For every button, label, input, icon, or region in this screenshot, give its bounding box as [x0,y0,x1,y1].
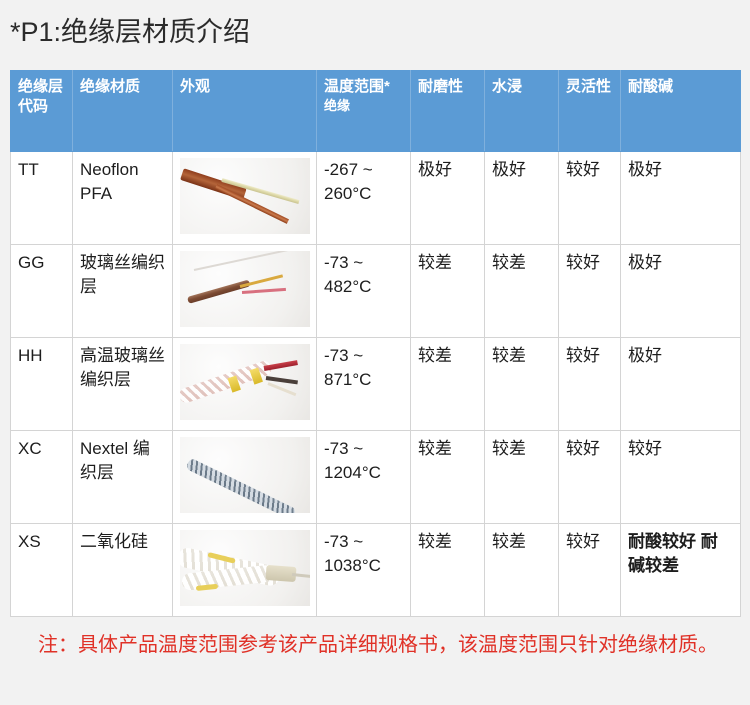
cell-abrasion-resistance: 极好 [411,152,485,245]
cell-temperature-range: -267 ~ 260°C [317,152,411,245]
cell-abrasion-resistance: 较差 [411,431,485,524]
cell-appearance [173,431,317,524]
table-header: 绝缘层代码 绝缘材质 外观 温度范围*绝缘 耐磨性 水浸 灵活性 耐酸碱 [11,71,741,152]
cell-abrasion-resistance: 较差 [411,524,485,617]
column-header-temperature-sub: 绝缘 [324,97,403,114]
cell-water-immersion: 较差 [485,524,559,617]
cell-insulation-material: 玻璃丝编织层 [73,245,173,338]
cell-temperature-range: -73 ~ 482°C [317,245,411,338]
cell-appearance [173,338,317,431]
cell-abrasion-resistance: 较差 [411,245,485,338]
cell-appearance [173,524,317,617]
column-header-acid-alkali-resistance: 耐酸碱 [621,71,741,152]
cell-flexibility: 较好 [559,152,621,245]
cell-temperature-range: -73 ~ 871°C [317,338,411,431]
column-header-flexibility: 灵活性 [559,71,621,152]
table-header-row: 绝缘层代码 绝缘材质 外观 温度范围*绝缘 耐磨性 水浸 灵活性 耐酸碱 [11,71,741,152]
cell-acid-alkali-resistance: 较好 [621,431,741,524]
cell-acid-alkali-resistance: 极好 [621,152,741,245]
cell-water-immersion: 较差 [485,431,559,524]
table-row: GG 玻璃丝编织层 -73 ~ 482°C 较差 较差 较好 极好 [11,245,741,338]
cell-insulation-material: Nextel 编织层 [73,431,173,524]
photo-background [180,251,310,327]
insulation-material-table: 绝缘层代码 绝缘材质 外观 温度范围*绝缘 耐磨性 水浸 灵活性 耐酸碱 TT … [10,70,741,617]
cell-acid-alkali-resistance: 极好 [621,245,741,338]
page-title: *P1:绝缘层材质介绍 [10,14,250,50]
cell-insulation-material: 高温玻璃丝编织层 [73,338,173,431]
column-header-temperature-range: 温度范围*绝缘 [317,71,411,152]
page-root: *P1:绝缘层材质介绍 绝缘层代码 绝缘材质 外观 温度范围*绝缘 耐磨性 水浸… [0,0,750,705]
photo-background [180,158,310,234]
cell-flexibility: 较好 [559,245,621,338]
cell-water-immersion: 较差 [485,245,559,338]
high-temp-glass-fiber-braid-photo [180,344,310,420]
table-note: 注：具体产品温度范围参考该产品详细规格书，该温度范围只针对绝缘材质。 [38,628,728,662]
column-header-temperature-main: 温度范围* [324,78,390,95]
cell-insulation-code: GG [11,245,73,338]
nextel-braid-photo [180,437,310,513]
cell-water-immersion: 较差 [485,338,559,431]
table-row: HH 高温玻璃丝编织层 -73 ~ 871°C 较差 较差 [11,338,741,431]
cell-insulation-code: TT [11,152,73,245]
column-header-appearance: 外观 [173,71,317,152]
cell-insulation-code: XS [11,524,73,617]
glass-fiber-braid-photo [180,251,310,327]
table-body: TT Neoflon PFA -267 ~ 260°C 极好 极好 较好 极好 [11,152,741,617]
table-row: TT Neoflon PFA -267 ~ 260°C 极好 极好 较好 极好 [11,152,741,245]
pfa-wire-photo [180,158,310,234]
cell-insulation-code: HH [11,338,73,431]
cell-acid-alkali-resistance: 极好 [621,338,741,431]
cell-appearance [173,245,317,338]
column-header-insulation-code: 绝缘层代码 [11,71,73,152]
column-header-abrasion-resistance: 耐磨性 [411,71,485,152]
column-header-insulation-material: 绝缘材质 [73,71,173,152]
table-row: XC Nextel 编织层 -73 ~ 1204°C 较差 较差 较好 较好 [11,431,741,524]
column-header-water-immersion: 水浸 [485,71,559,152]
table-row: XS 二氧化硅 -73 ~ 1038°C 较差 较差 较好 [11,524,741,617]
cell-acid-alkali-resistance: 耐酸较好 耐碱较差 [621,524,741,617]
cell-abrasion-resistance: 较差 [411,338,485,431]
cell-temperature-range: -73 ~ 1204°C [317,431,411,524]
cell-temperature-range: -73 ~ 1038°C [317,524,411,617]
silica-sleeve-photo [180,530,310,606]
cell-appearance [173,152,317,245]
cell-water-immersion: 极好 [485,152,559,245]
cell-insulation-material: Neoflon PFA [73,152,173,245]
cell-flexibility: 较好 [559,431,621,524]
cell-insulation-material: 二氧化硅 [73,524,173,617]
cell-flexibility: 较好 [559,338,621,431]
cell-insulation-code: XC [11,431,73,524]
cell-flexibility: 较好 [559,524,621,617]
